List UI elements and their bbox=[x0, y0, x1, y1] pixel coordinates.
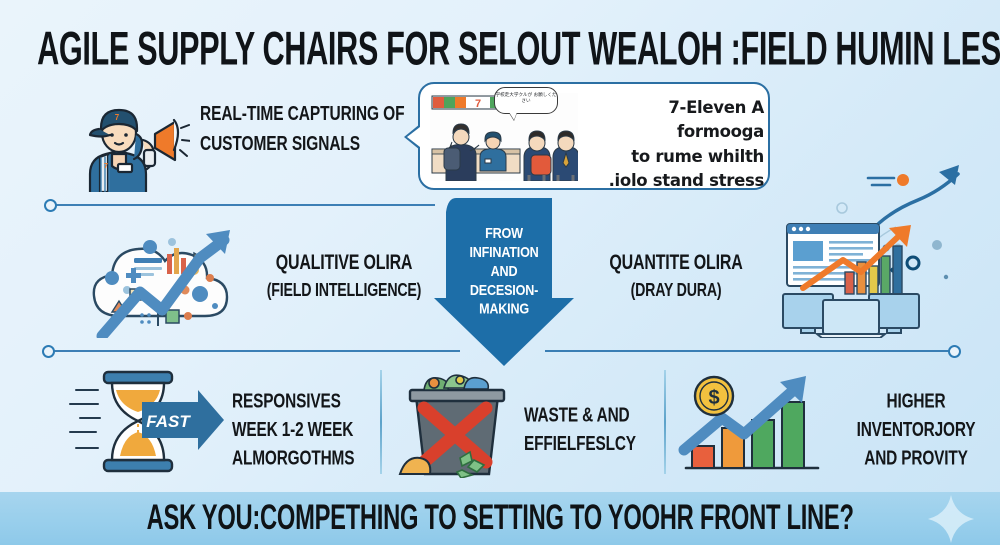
waste-efficiency-text: WASTE & AND EFFIELFESLCY bbox=[524, 402, 670, 459]
clerk-with-megaphone-icon: 7 7 bbox=[70, 88, 190, 192]
fast-badge-label: FAST bbox=[146, 412, 191, 431]
japanese-speech-bubble: 学校走大学クルが お願しくたさい bbox=[494, 87, 558, 114]
bubble-line-2: to rume whilth bbox=[588, 145, 764, 169]
divider-vertical-left bbox=[380, 370, 382, 474]
infographic-poster: AGILE SUPPLY CHAIRS FOR SELOUT WEALOH :F… bbox=[0, 0, 1000, 545]
divider-middle-right-node bbox=[948, 345, 961, 358]
responsiveness-line-3: ALMORGOTHMS bbox=[232, 445, 380, 473]
row-benefits: FAST RESPONSIVES WEEK 1-2 WEEK ALMORGOTH… bbox=[0, 360, 1000, 485]
customer-insight-bubble: 7 bbox=[418, 82, 770, 190]
divider-middle-left-node bbox=[42, 345, 55, 358]
arrow-line-4: DECESION- bbox=[448, 281, 560, 300]
row-realtime-capture: 7 7 REAL-TIME CAPTURING OF CUSTOMER SIGN… bbox=[0, 80, 1000, 195]
qualitative-title: QUALITIVE OLIRA bbox=[246, 252, 442, 275]
bubble-tail-icon bbox=[404, 124, 420, 150]
profit-bar-chart-icon: $ bbox=[678, 372, 830, 474]
arrow-text: FROW INFINATION AND DECESION- MAKING bbox=[448, 224, 560, 319]
divider-middle-left bbox=[50, 350, 460, 352]
qualitative-block: QUALITIVE OLIRA (FIELD INTELLIGENCE) bbox=[246, 252, 442, 301]
svg-text:7: 7 bbox=[115, 113, 120, 122]
responsiveness-line-1: RESPONSIVES bbox=[232, 388, 380, 416]
poster-title-text: AGILE SUPPLY CHAIRS FOR SELOUT WEALOH :F… bbox=[37, 22, 1000, 76]
inventory-line-1: HIGHER bbox=[840, 388, 992, 416]
svg-text:$: $ bbox=[708, 387, 719, 409]
arrow-line-1: FROW bbox=[448, 224, 560, 243]
divider-vertical-right bbox=[664, 370, 666, 474]
inventory-line-2: INVENTORJORY bbox=[840, 416, 992, 444]
bubble-line-1: 7-Eleven A formooga bbox=[588, 96, 764, 145]
divider-middle-right bbox=[545, 350, 953, 352]
sparkle-icon bbox=[928, 495, 974, 543]
divider-top bbox=[50, 204, 435, 206]
quantitative-subtitle: (DRAY DURA) bbox=[578, 281, 774, 302]
waste-bin-crossed-icon bbox=[398, 366, 516, 478]
svg-text:7: 7 bbox=[104, 161, 108, 170]
responsiveness-text: RESPONSIVES WEEK 1-2 WEEK ALMORGOTHMS bbox=[232, 388, 380, 473]
row-data-flow: QUALITIVE OLIRA (FIELD INTELLIGENCE) FRO… bbox=[0, 210, 1000, 350]
inventory-line-3: AND PROVITY bbox=[840, 445, 992, 473]
bubble-text: 7-Eleven A formooga to rume whilth .iolo… bbox=[588, 96, 764, 194]
quantitative-title: QUANTITE OLIRA bbox=[578, 252, 774, 275]
data-cloud-growth-icon bbox=[82, 218, 257, 338]
realtime-capture-label: REAL-TIME CAPTURING OF CUSTOMER SIGNALS bbox=[200, 100, 405, 160]
waste-line-1: WASTE & AND bbox=[524, 402, 670, 430]
bubble-line-3: .iolo stand stress bbox=[588, 169, 764, 193]
qualitative-subtitle: (FIELD INTELLIGENCE) bbox=[246, 281, 442, 302]
inventory-profit-text: HIGHER INVENTORJORY AND PROVITY bbox=[840, 388, 992, 473]
arrow-line-2: INFINATION bbox=[448, 243, 560, 262]
poster-title: AGILE SUPPLY CHAIRS FOR SELOUT WEALOH :F… bbox=[0, 22, 1000, 60]
responsiveness-line-2: WEEK 1-2 WEEK bbox=[232, 416, 380, 444]
quantitative-block: QUANTITE OLIRA (DRAY DURA) bbox=[578, 252, 774, 301]
arrow-line-3: AND bbox=[448, 262, 560, 281]
dashboard-analytics-icon bbox=[765, 220, 937, 338]
footer-cta-text: ASK YOU:COMPETHING TO SETTING TO YOOHR F… bbox=[146, 498, 853, 539]
arrow-line-5: MAKING bbox=[448, 300, 560, 319]
svg-text:7: 7 bbox=[475, 98, 481, 110]
footer-banner: ASK YOU:COMPETHING TO SETTING TO YOOHR F… bbox=[0, 492, 1000, 545]
waste-line-2: EFFIELFESLCY bbox=[524, 430, 670, 458]
hourglass-fast-icon: FAST bbox=[68, 368, 228, 476]
